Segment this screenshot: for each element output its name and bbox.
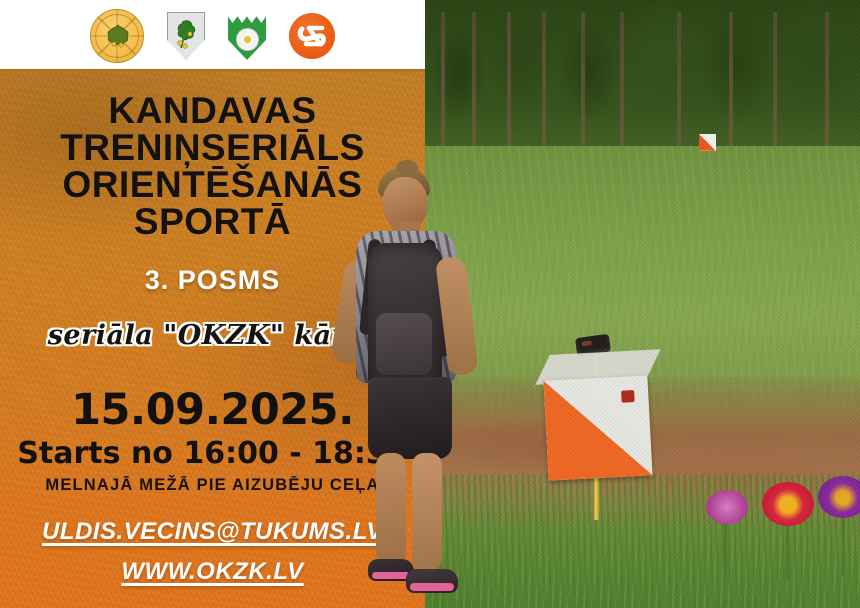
logo-header-band	[0, 0, 425, 72]
oak-branch-icon	[171, 17, 201, 53]
left-leg	[376, 453, 406, 565]
tree-trunk	[729, 12, 733, 158]
oak-leaf-icon	[103, 22, 133, 52]
tree-trunk	[441, 12, 445, 158]
right-leg	[412, 453, 442, 571]
hair-bun	[396, 160, 418, 176]
tree-trunk	[825, 12, 829, 158]
tree-trunk	[677, 12, 681, 158]
flower-stem	[724, 520, 727, 580]
tree-trunk	[620, 12, 624, 158]
flower-red	[762, 482, 814, 526]
event-poster: KANDAVAS TRENIŅSERIĀLS ORIENTĒŠANĀS SPOR…	[0, 0, 860, 608]
event-photo	[424, 0, 860, 608]
right-shoe	[406, 569, 458, 593]
tree-trunk	[507, 12, 511, 158]
white-rose-icon	[237, 29, 258, 50]
title-line-1: KANDAVAS	[0, 92, 425, 129]
orienteering-runner-figure	[330, 165, 480, 608]
tree-trunk	[581, 12, 585, 158]
kandava-coat-of-arms	[167, 12, 205, 60]
shorts	[368, 377, 452, 459]
flower-purple	[818, 476, 860, 518]
tukums-coat-of-arms	[228, 12, 266, 60]
tree-trunk	[773, 12, 777, 158]
backpack-pocket	[376, 313, 432, 375]
far-control-flag-icon	[699, 134, 716, 151]
flower-stem	[786, 520, 789, 582]
near-control-flag-icon	[543, 375, 652, 480]
flower-magenta	[706, 490, 748, 524]
sporta-klubs-kandava-logo	[90, 9, 144, 63]
flag-logo-mark	[621, 390, 635, 403]
okzk-logo	[289, 13, 335, 59]
flower-stem	[842, 514, 845, 576]
tree-trunk	[472, 12, 476, 158]
tree-trunk	[542, 12, 546, 158]
title-line-2: TRENIŅSERIĀLS	[0, 129, 425, 166]
okzk-monogram-icon	[289, 13, 335, 59]
